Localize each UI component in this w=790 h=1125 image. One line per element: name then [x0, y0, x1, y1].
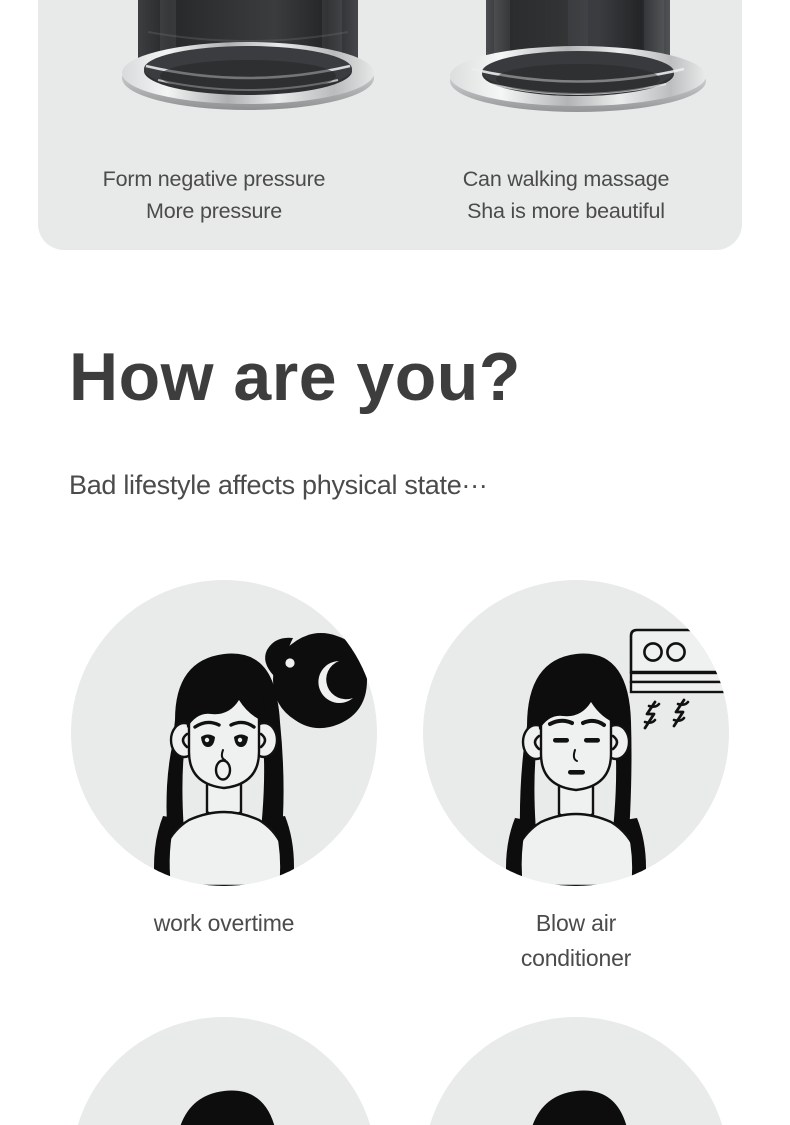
suction-cup-glass-icon	[428, 0, 728, 140]
illustration-cell-0: work overtime	[71, 580, 377, 941]
illustration-caption-0-line-0: work overtime	[71, 906, 377, 941]
woman-illustration-partial-right-icon	[423, 1017, 729, 1125]
product-caption-1-line-0: Can walking massage	[390, 163, 742, 195]
woman-air-conditioner-illustration-icon	[423, 580, 729, 886]
illustration-cell-1: Blow air conditioner	[423, 580, 729, 976]
product-caption-row: Form negative pressure More pressure Can…	[38, 163, 742, 243]
illustration-cell-3	[423, 1017, 729, 1125]
ac-unit-glyph	[631, 630, 729, 728]
illustration-caption-1-line-0: Blow air	[423, 906, 729, 941]
promo-page: Form negative pressure More pressure Can…	[0, 0, 790, 1125]
illustration-caption-1-line-1: conditioner	[423, 941, 729, 976]
product-caption-0-line-0: Form negative pressure	[38, 163, 390, 195]
product-caption-1-line-1: Sha is more beautiful	[390, 195, 742, 227]
illustration-caption-1: Blow air conditioner	[423, 906, 729, 976]
page-subtitle: Bad lifestyle affects physical state···	[69, 466, 487, 504]
product-caption-0-line-1: More pressure	[38, 195, 390, 227]
page-title: How are you?	[69, 335, 521, 419]
illustration-cell-2	[71, 1017, 377, 1125]
product-caption-1: Can walking massage Sha is more beautifu…	[390, 163, 742, 243]
woman-illustration-partial-left-icon	[71, 1017, 377, 1125]
product-caption-0: Form negative pressure More pressure	[38, 163, 390, 243]
suction-cup-dark-icon	[98, 0, 398, 140]
woman-night-moon-illustration-icon	[71, 580, 377, 886]
illustration-caption-0: work overtime	[71, 906, 377, 941]
